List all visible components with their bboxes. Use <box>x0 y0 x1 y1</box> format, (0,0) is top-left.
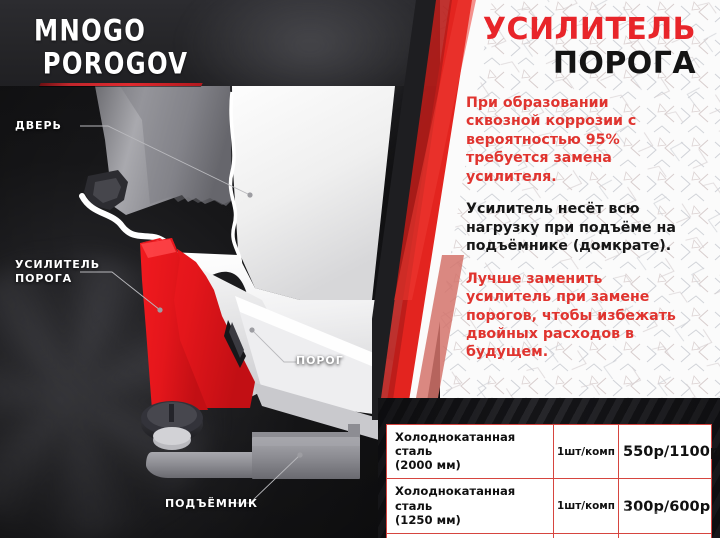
paragraph-2: Усилитель несёт всю нагрузку при подъёме… <box>466 200 710 255</box>
callout-reinforcement: УСИЛИТЕЛЬ ПОРОГА <box>15 258 100 286</box>
table-row: Холоднокатанная сталь (2000 мм) 1шт/комп… <box>387 425 711 479</box>
logo-line-1: MNOGO <box>34 16 209 45</box>
title-line-2: ПОРОГА <box>440 48 696 79</box>
table-row: Оцинкованная сталь (2000 мм) 1шт/комп 60… <box>387 534 711 538</box>
logo-line-2: POROGOV <box>34 49 209 78</box>
paragraph-1: При образовании сквозной коррозии с веро… <box>466 94 710 186</box>
callout-jack: ПОДЪЁМНИК <box>165 497 258 511</box>
cell-quantity: 1шт/комп <box>554 534 619 538</box>
avito-watermark: Avito <box>619 506 712 532</box>
brand-logo: MNOGO POROGOV <box>34 16 214 86</box>
cell-quantity: 1шт/комп <box>554 479 619 532</box>
callout-sill: ПОРОГ <box>296 354 344 368</box>
jack-arm <box>146 452 252 478</box>
jack-block-highlight <box>252 437 360 446</box>
door-inner-skin <box>232 86 395 300</box>
cell-material: Холоднокатанная сталь (2000 мм) <box>387 425 554 478</box>
page-title: УСИЛИТЕЛЬ ПОРОГА <box>440 14 708 79</box>
poster-root: MNOGO POROGOV <box>0 0 720 538</box>
avito-watermark-text: Avito <box>650 507 712 531</box>
paragraph-3: Лучше заменить усилитель при замене поро… <box>466 270 710 362</box>
title-line-1: УСИЛИТЕЛЬ <box>440 14 696 45</box>
cell-price: 600р/1200р <box>619 534 720 538</box>
logo-underline <box>39 83 202 86</box>
callout-door: ДВЕРЬ <box>15 119 62 133</box>
cell-quantity: 1шт/комп <box>554 425 619 478</box>
cell-price: 550р/1100р <box>619 425 720 478</box>
cell-material: Холоднокатанная сталь (1250 мм) <box>387 479 554 532</box>
cell-material: Оцинкованная сталь (2000 мм) <box>387 534 554 538</box>
jack-pad-base-top <box>153 427 191 445</box>
jack-pad-notch <box>169 404 174 422</box>
description-block: При образовании сквозной коррозии с веро… <box>466 94 710 376</box>
avito-logo-icon <box>619 506 645 532</box>
